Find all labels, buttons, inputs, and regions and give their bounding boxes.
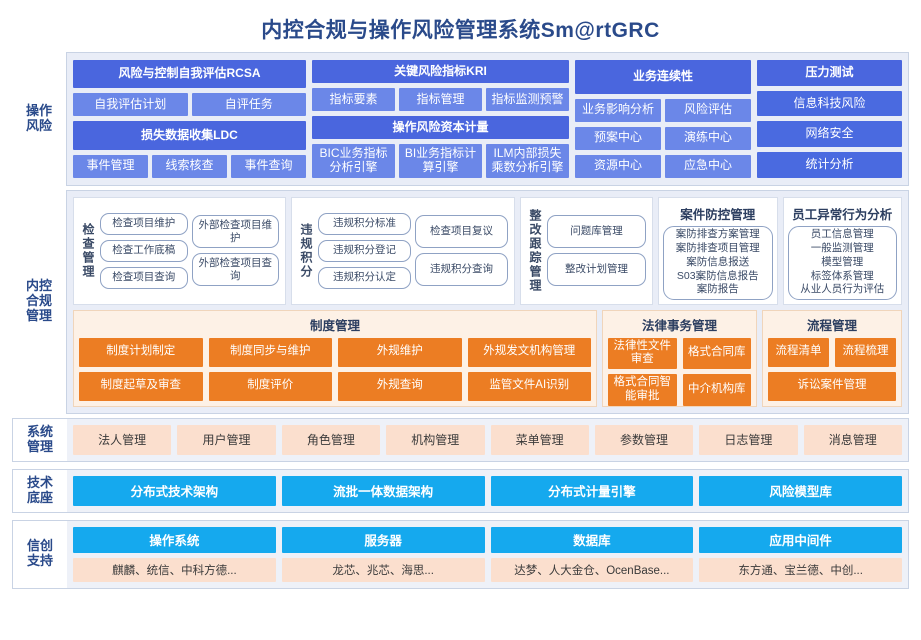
item-standard-contract-smart-approval[interactable]: 格式合同智能审批	[608, 374, 677, 406]
sys-label-line1: 系统	[27, 424, 53, 439]
internal-control-cards-row: 检查管理 检查项目维护 检查工作底稿 检查项目查询 外部检查项目维护 外部检查项…	[73, 197, 902, 305]
item-inspection-project-reconsideration[interactable]: 检查项目复议	[415, 215, 508, 248]
xc-column-database: 数据库 达梦、人大金仓、OcenBase...	[491, 527, 694, 582]
violation-col-b: 检查项目复议 违规积分查询	[413, 202, 510, 300]
item-external-rule-issuing-org-management[interactable]: 外规发文机构管理	[468, 338, 592, 367]
op-column-stress-test: 压力测试 信息科技风险 网络安全 统计分析	[757, 60, 902, 178]
item-external-inspection-project-query[interactable]: 外部检查项目查询	[192, 253, 280, 286]
item-user-management[interactable]: 用户管理	[177, 425, 275, 455]
op-row-kri-items: 指标要素 指标管理 指标监测预警	[312, 88, 569, 111]
panel-policy-management: 制度管理 制度计划制定 制度同步与维护 外规维护 外规发文机构管理 制度起草及审…	[73, 310, 597, 407]
legal-row-2: 格式合同智能审批 中介机构库	[608, 374, 751, 406]
tech-base-body: 分布式技术架构 流批一体数据架构 分布式计量引擎 风险模型库	[67, 470, 908, 512]
item-inspection-working-paper[interactable]: 检查工作底稿	[100, 240, 188, 262]
item-ilm-engine[interactable]: ILM内部损失乘数分析引擎	[486, 144, 569, 178]
item-it-risk[interactable]: 信息科技风险	[757, 91, 902, 117]
panel-title-process-management: 流程管理	[768, 314, 896, 338]
rectification-col: 问题库管理 整改计划管理	[545, 202, 648, 300]
case-control-item-list[interactable]: 案防排查方案管理 案防排查项目管理 案防信息报送 S03案防信息报告 案防报告	[663, 226, 773, 300]
item-parameter-management[interactable]: 参数管理	[595, 425, 693, 455]
operational-risk-body: 风险与控制自我评估RCSA 自我评估计划 自评任务 损失数据收集LDC 事件管理…	[66, 52, 909, 186]
xc-column-os: 操作系统 麒麟、统信、中科方德...	[73, 527, 276, 582]
section-label-system-management: 系统 管理	[13, 419, 67, 461]
item-general-monitoring-management: 一般监测管理	[811, 242, 874, 256]
item-practitioner-behavior-assessment: 从业人员行为评估	[800, 283, 884, 297]
xc-column-middleware: 应用中间件 东方通、宝兰德、中创...	[699, 527, 902, 582]
item-case-info-submission: 案防信息报送	[686, 256, 749, 270]
item-server[interactable]: 服务器	[282, 527, 485, 553]
item-tag-system-management: 标签体系管理	[811, 270, 874, 284]
op-label-line2: 风险	[26, 118, 52, 133]
section-tech-base: 技术 底座 分布式技术架构 流批一体数据架构 分布式计量引擎 风险模型库	[12, 469, 909, 513]
item-violation-points-registration[interactable]: 违规积分登记	[318, 240, 411, 262]
op-column-kri-capital: 关键风险指标KRI 指标要素 指标管理 指标监测预警 操作风险资本计量 BIC业…	[312, 60, 569, 178]
system-architecture-diagram: 内控合规与操作风险管理系统Sm@rtGRC 操作 风险 风险与控制自我评估RCS…	[0, 0, 921, 640]
group-header-business-continuity[interactable]: 业务连续性	[575, 60, 751, 94]
section-operational-risk: 操作 风险 风险与控制自我评估RCSA 自我评估计划 自评任务 损失数据收集LD…	[12, 52, 909, 186]
group-header-kri[interactable]: 关键风险指标KRI	[312, 60, 569, 83]
item-application-middleware-vendors[interactable]: 东方通、宝兰德、中创...	[699, 558, 902, 582]
panel-process-management: 流程管理 流程清单 流程梳理 诉讼案件管理	[762, 310, 902, 407]
tech-label-line1: 技术	[27, 475, 53, 490]
op-row-rcsa-items: 自我评估计划 自评任务	[73, 93, 306, 116]
item-case-plan-management: 案防排查方案管理	[676, 228, 760, 242]
item-external-rule-maintenance[interactable]: 外规维护	[338, 338, 462, 367]
item-organization-management[interactable]: 机构管理	[386, 425, 484, 455]
card-violation-points: 违规积分 违规积分标准 违规积分登记 违规积分认定 检查项目复议 违规积分查询	[291, 197, 515, 305]
item-self-assessment-plan[interactable]: 自我评估计划	[73, 93, 188, 116]
item-database[interactable]: 数据库	[491, 527, 694, 553]
item-rectification-plan-management[interactable]: 整改计划管理	[547, 253, 646, 286]
op-row-bc-items-1: 业务影响分析 风险评估	[575, 99, 751, 122]
item-stream-batch-data-architecture[interactable]: 流批一体数据架构	[282, 476, 485, 506]
item-policy-drafting-review[interactable]: 制度起草及审查	[79, 372, 203, 401]
op-row-bc-items-2: 预案中心 演练中心	[575, 127, 751, 150]
item-intermediary-org-library[interactable]: 中介机构库	[683, 374, 752, 406]
item-drill-center[interactable]: 演练中心	[665, 127, 751, 150]
violation-col-a: 违规积分标准 违规积分登记 违规积分认定	[316, 202, 413, 300]
xc-label-line1: 信创	[27, 538, 53, 553]
item-external-rule-query[interactable]: 外规查询	[338, 372, 462, 401]
item-model-management: 模型管理	[821, 256, 863, 270]
card-vlabel-rectification: 整改跟踪管理	[525, 202, 545, 300]
item-indicator-management[interactable]: 指标管理	[399, 88, 482, 111]
card-inspection-management: 检查管理 检查项目维护 检查工作底稿 检查项目查询 外部检查项目维护 外部检查项…	[73, 197, 286, 305]
item-regulatory-doc-ai-recognition[interactable]: 监管文件AI识别	[468, 372, 592, 401]
ic-label-line3: 管理	[26, 308, 52, 323]
item-business-impact-analysis[interactable]: 业务影响分析	[575, 99, 661, 122]
item-resource-center[interactable]: 资源中心	[575, 155, 661, 178]
item-distributed-tech-architecture[interactable]: 分布式技术架构	[73, 476, 276, 506]
panel-title-legal-affairs: 法律事务管理	[608, 314, 751, 338]
system-management-body: 法人管理 用户管理 角色管理 机构管理 菜单管理 参数管理 日志管理 消息管理	[67, 419, 908, 461]
item-inspection-project-query[interactable]: 检查项目查询	[100, 267, 188, 289]
item-menu-management[interactable]: 菜单管理	[491, 425, 589, 455]
inspection-col-b: 外部检查项目维护 外部检查项目查询	[190, 202, 282, 300]
legal-row-1: 法律性文件审查 格式合同库	[608, 338, 751, 370]
inspection-col-a: 检查项目维护 检查工作底稿 检查项目查询	[98, 202, 190, 300]
item-litigation-case-management[interactable]: 诉讼案件管理	[768, 372, 896, 401]
card-rectification-tracking: 整改跟踪管理 问题库管理 整改计划管理	[520, 197, 653, 305]
op-column-business-continuity: 业务连续性 业务影响分析 风险评估 预案中心 演练中心 资源中心 应急中心	[575, 60, 751, 178]
section-xinchuang-support: 信创 支持 操作系统 麒麟、统信、中科方德... 服务器 龙芯、兆芯、海思...…	[12, 520, 909, 589]
item-event-query[interactable]: 事件查询	[231, 155, 306, 178]
xinchuang-body: 操作系统 麒麟、统信、中科方德... 服务器 龙芯、兆芯、海思... 数据库 达…	[67, 521, 908, 588]
item-issue-library-management[interactable]: 问题库管理	[547, 215, 646, 248]
item-case-project-management: 案防排查项目管理	[676, 242, 760, 256]
section-label-internal-control: 内控 合规 管理	[12, 190, 66, 414]
item-clue-verification[interactable]: 线索核查	[152, 155, 227, 178]
panel-title-policy-management: 制度管理	[79, 314, 591, 338]
item-violation-points-query[interactable]: 违规积分查询	[415, 253, 508, 286]
item-inspection-project-maintenance[interactable]: 检查项目维护	[100, 213, 188, 235]
item-plan-center[interactable]: 预案中心	[575, 127, 661, 150]
item-bi-engine[interactable]: BI业务指标计算引擎	[399, 144, 482, 178]
op-row-ldc-items: 事件管理 线索核查 事件查询	[73, 155, 306, 178]
card-vlabel-violation-points: 违规积分	[296, 202, 316, 300]
item-statistical-analysis[interactable]: 统计分析	[757, 152, 902, 178]
item-external-inspection-project-maintenance[interactable]: 外部检查项目维护	[192, 215, 280, 248]
xc-column-server: 服务器 龙芯、兆芯、海思...	[282, 527, 485, 582]
item-policy-evaluation[interactable]: 制度评价	[209, 372, 333, 401]
item-violation-points-standard[interactable]: 违规积分标准	[318, 213, 411, 235]
op-row-capital-items: BIC业务指标分析引擎 BI业务指标计算引擎 ILM内部损失乘数分析引擎	[312, 144, 569, 178]
item-stress-test[interactable]: 压力测试	[757, 60, 902, 86]
section-internal-control: 内控 合规 管理 检查管理 检查项目维护 检查工作底稿 检查项目查询	[12, 190, 909, 414]
item-indicator-elements[interactable]: 指标要素	[312, 88, 395, 111]
tech-label-line2: 底座	[27, 490, 53, 505]
panel-legal-affairs: 法律事务管理 法律性文件审查 格式合同库 格式合同智能审批 中介机构库	[602, 310, 757, 407]
ic-label-line2: 合规	[26, 293, 52, 308]
item-bic-engine[interactable]: BIC业务指标分析引擎	[312, 144, 395, 178]
item-legal-document-review[interactable]: 法律性文件审查	[608, 338, 677, 370]
item-process-combing[interactable]: 流程梳理	[835, 338, 896, 367]
sys-label-line2: 管理	[27, 439, 53, 454]
section-label-xinchuang-support: 信创 支持	[13, 521, 67, 588]
policy-row-1: 制度计划制定 制度同步与维护 外规维护 外规发文机构管理	[79, 338, 591, 367]
item-log-management[interactable]: 日志管理	[699, 425, 797, 455]
section-label-operational-risk: 操作 风险	[12, 52, 66, 186]
policy-management-grid: 制度计划制定 制度同步与维护 外规维护 外规发文机构管理 制度起草及审查 制度评…	[79, 338, 591, 401]
card-vlabel-inspection: 检查管理	[78, 202, 98, 300]
item-indicator-monitoring-alert[interactable]: 指标监测预警	[486, 88, 569, 111]
section-label-tech-base: 技术 底座	[13, 470, 67, 512]
group-header-capital-measurement[interactable]: 操作风险资本计量	[312, 116, 569, 139]
card-employee-behavior: 员工异常行为分析 员工信息管理 一般监测管理 模型管理 标签体系管理 从业人员行…	[783, 197, 903, 305]
legal-affairs-grid: 法律性文件审查 格式合同库 格式合同智能审批 中介机构库	[608, 338, 751, 406]
card-title-case-control: 案件防控管理	[663, 202, 773, 226]
item-risk-model-library[interactable]: 风险模型库	[699, 476, 902, 506]
item-application-middleware[interactable]: 应用中间件	[699, 527, 902, 553]
group-header-ldc[interactable]: 损失数据收集LDC	[73, 121, 306, 149]
employee-behavior-item-list[interactable]: 员工信息管理 一般监测管理 模型管理 标签体系管理 从业人员行为评估	[788, 226, 898, 300]
item-role-management[interactable]: 角色管理	[282, 425, 380, 455]
item-database-vendors[interactable]: 达梦、人大金仓、OcenBase...	[491, 558, 694, 582]
op-column-rcsa-ldc: 风险与控制自我评估RCSA 自我评估计划 自评任务 损失数据收集LDC 事件管理…	[73, 60, 306, 178]
item-s03-case-info-report: S03案防信息报告	[677, 270, 759, 284]
group-header-rcsa[interactable]: 风险与控制自我评估RCSA	[73, 60, 306, 88]
item-policy-plan-formulation[interactable]: 制度计划制定	[79, 338, 203, 367]
item-operating-system-vendors[interactable]: 麒麟、统信、中科方德...	[73, 558, 276, 582]
item-case-report: 案防报告	[697, 283, 739, 297]
item-event-management[interactable]: 事件管理	[73, 155, 148, 178]
page-title-bar: 内控合规与操作风险管理系统Sm@rtGRC	[12, 6, 909, 52]
internal-control-body: 检查管理 检查项目维护 检查工作底稿 检查项目查询 外部检查项目维护 外部检查项…	[66, 190, 909, 414]
item-violation-points-determination[interactable]: 违规积分认定	[318, 267, 411, 289]
item-standard-contract-library[interactable]: 格式合同库	[683, 338, 752, 370]
item-distributed-measurement-engine[interactable]: 分布式计量引擎	[491, 476, 694, 506]
page-title: 内控合规与操作风险管理系统Sm@rtGRC	[261, 14, 660, 44]
policy-row-2: 制度起草及审查 制度评价 外规查询 监管文件AI识别	[79, 372, 591, 401]
item-legal-entity-management[interactable]: 法人管理	[73, 425, 171, 455]
item-operating-system[interactable]: 操作系统	[73, 527, 276, 553]
item-message-management[interactable]: 消息管理	[804, 425, 902, 455]
item-employee-info-management: 员工信息管理	[811, 228, 874, 242]
xc-label-line2: 支持	[27, 553, 53, 568]
section-system-management: 系统 管理 法人管理 用户管理 角色管理 机构管理 菜单管理 参数管理 日志管理…	[12, 418, 909, 462]
item-self-assessment-task[interactable]: 自评任务	[192, 93, 307, 116]
process-row-2: 诉讼案件管理	[768, 372, 896, 401]
card-title-employee-behavior: 员工异常行为分析	[788, 202, 898, 226]
item-risk-assessment[interactable]: 风险评估	[665, 99, 751, 122]
item-emergency-center[interactable]: 应急中心	[665, 155, 751, 178]
internal-control-orange-row: 制度管理 制度计划制定 制度同步与维护 外规维护 外规发文机构管理 制度起草及审…	[73, 310, 902, 407]
item-process-list[interactable]: 流程清单	[768, 338, 829, 367]
card-case-control: 案件防控管理 案防排查方案管理 案防排查项目管理 案防信息报送 S03案防信息报…	[658, 197, 778, 305]
item-network-security[interactable]: 网络安全	[757, 121, 902, 147]
ic-label-line1: 内控	[26, 278, 52, 293]
process-management-grid: 流程清单 流程梳理 诉讼案件管理	[768, 338, 896, 401]
process-row-1: 流程清单 流程梳理	[768, 338, 896, 367]
item-server-vendors[interactable]: 龙芯、兆芯、海思...	[282, 558, 485, 582]
op-label-line1: 操作	[26, 103, 52, 118]
item-policy-sync-maintenance[interactable]: 制度同步与维护	[209, 338, 333, 367]
op-row-bc-items-3: 资源中心 应急中心	[575, 155, 751, 178]
